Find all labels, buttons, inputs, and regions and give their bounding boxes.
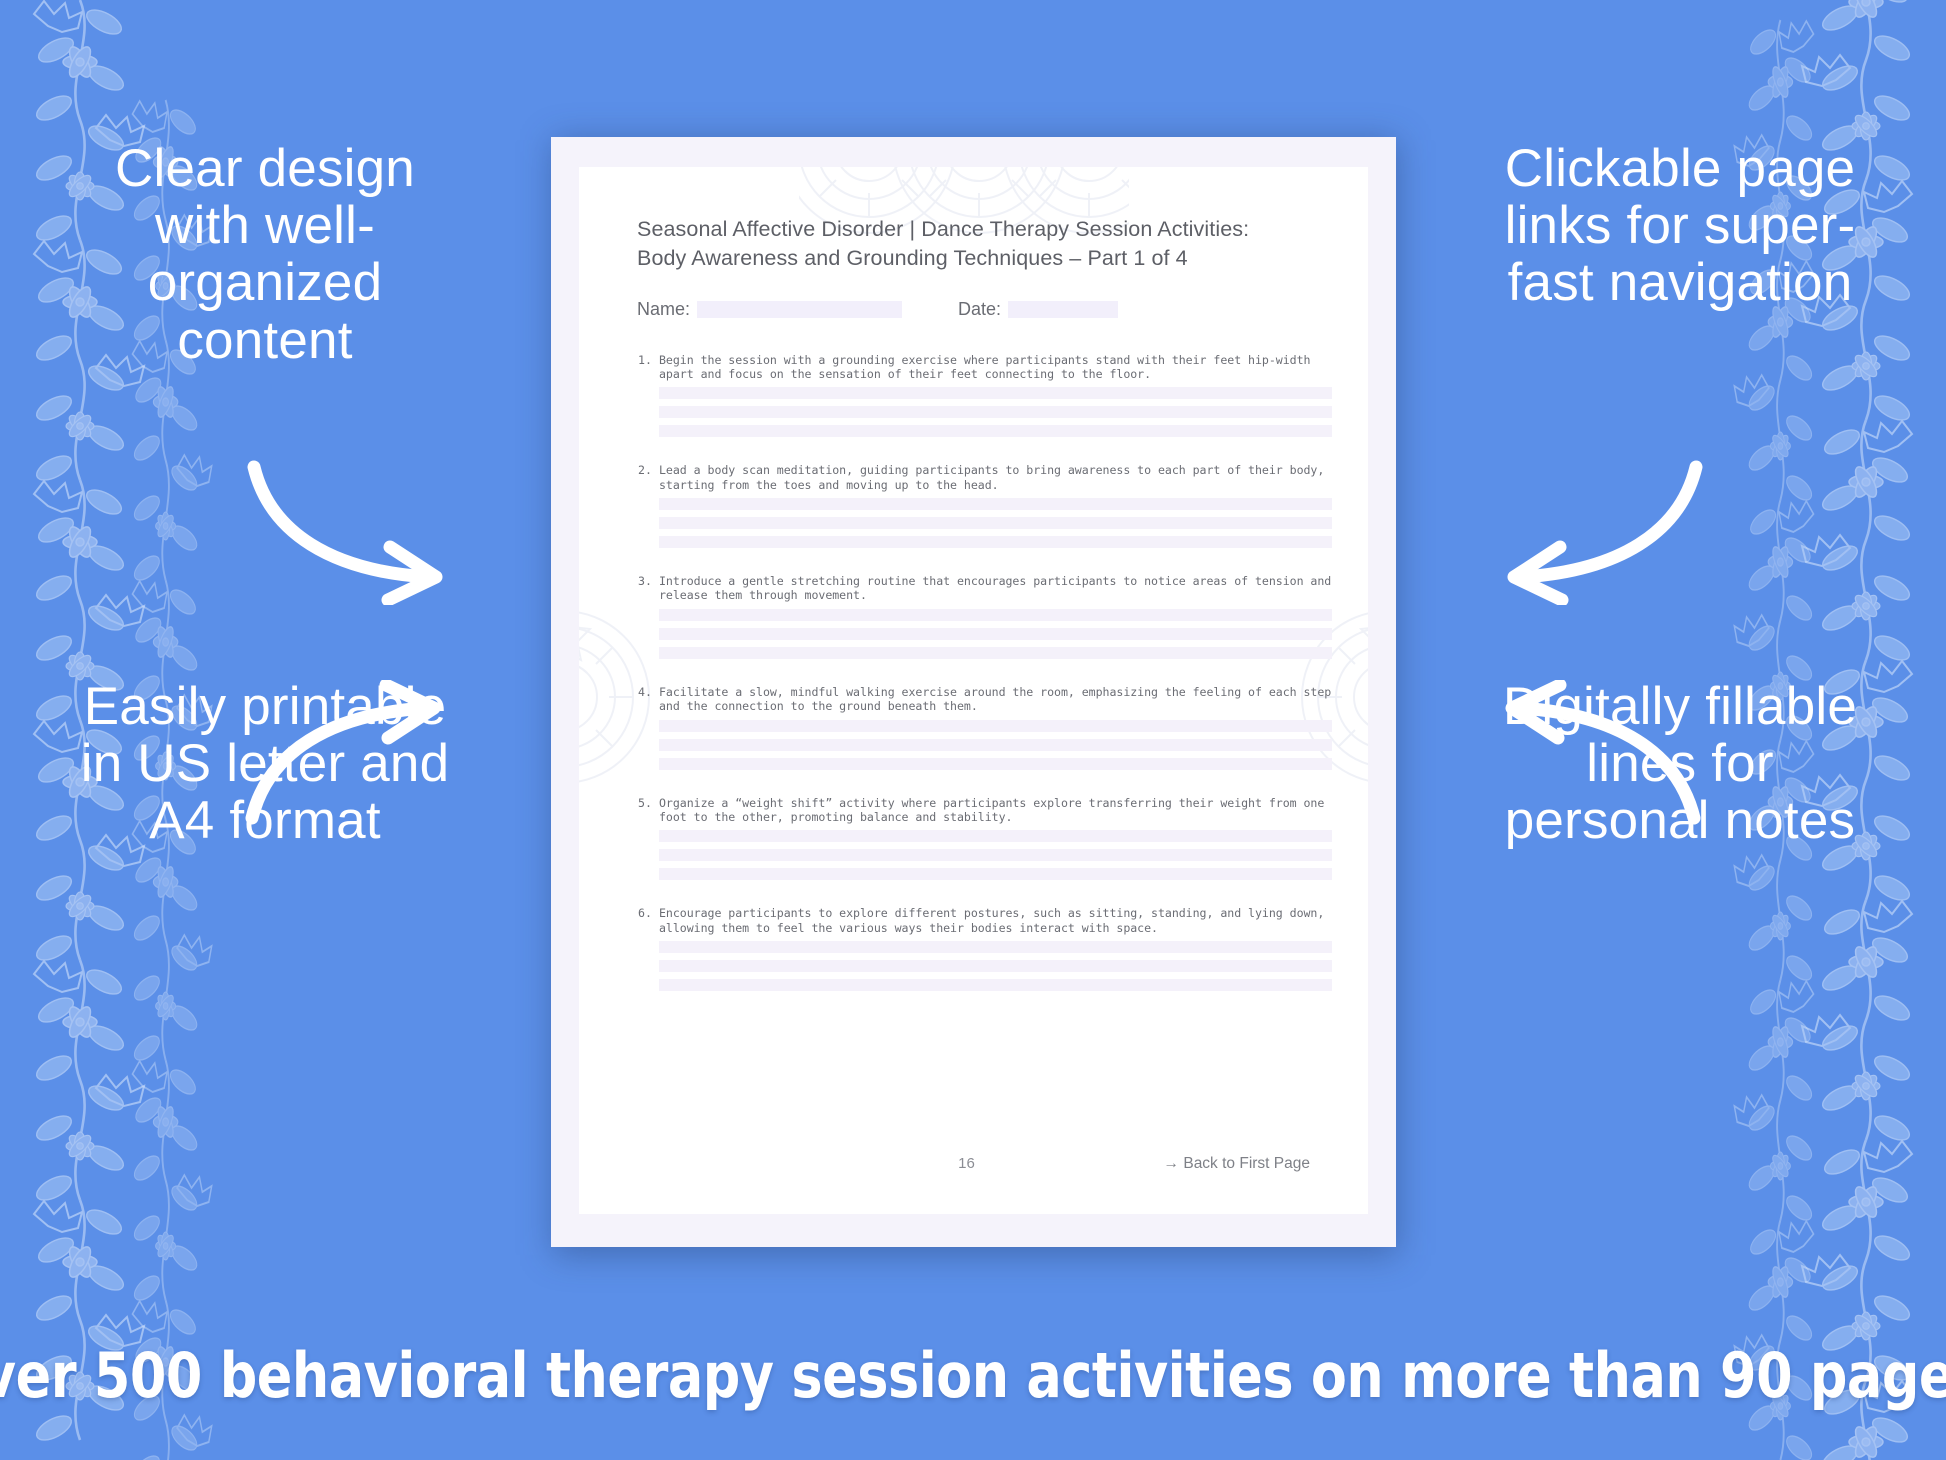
fillable-line[interactable]: [659, 609, 1332, 621]
fillable-line[interactable]: [659, 979, 1332, 991]
activity-item: 3.Introduce a gentle stretching routine …: [637, 574, 1332, 677]
activity-item: 2.Lead a body scan meditation, guiding p…: [637, 463, 1332, 566]
fillable-line[interactable]: [659, 425, 1332, 437]
fillable-line[interactable]: [659, 960, 1332, 972]
activity-spacer: [659, 887, 1332, 898]
name-label: Name:: [637, 299, 690, 320]
bottom-banner-text: Over 500 behavioral therapy session acti…: [0, 1339, 1946, 1412]
date-group: Date:: [958, 299, 1118, 320]
activity-number: 2.: [637, 463, 659, 566]
activity-spacer: [659, 444, 1332, 455]
worksheet-content-area: Seasonal Affective Disorder | Dance Ther…: [579, 167, 1368, 1214]
activity-number: 4.: [637, 685, 659, 788]
activity-text: Facilitate a slow, mindful walking exerc…: [659, 685, 1332, 714]
promo-text-fillable-lines: Digitally fillable lines for personal no…: [1480, 678, 1880, 850]
fillable-line[interactable]: [659, 941, 1332, 953]
fillable-line[interactable]: [659, 498, 1332, 510]
fillable-line[interactable]: [659, 647, 1332, 659]
date-input[interactable]: [1008, 301, 1118, 318]
date-label: Date:: [958, 299, 1001, 320]
activity-spacer: [659, 555, 1332, 566]
activity-body: Encourage participants to explore differ…: [659, 906, 1332, 1009]
activity-body: Begin the session with a grounding exerc…: [659, 353, 1332, 456]
activity-text: Introduce a gentle stretching routine th…: [659, 574, 1332, 603]
activity-list: 1.Begin the session with a grounding exe…: [637, 353, 1332, 1010]
fillable-line[interactable]: [659, 720, 1332, 732]
activity-item: 6.Encourage participants to explore diff…: [637, 906, 1332, 1009]
activity-number: 3.: [637, 574, 659, 677]
fillable-lines-group: [659, 498, 1332, 548]
activity-number: 1.: [637, 353, 659, 456]
activity-body: Facilitate a slow, mindful walking exerc…: [659, 685, 1332, 788]
worksheet-footer: 16 → Back to First Page: [637, 1155, 1332, 1172]
activity-spacer: [659, 666, 1332, 677]
bottom-banner: Over 500 behavioral therapy session acti…: [58, 1290, 1887, 1460]
fillable-line[interactable]: [659, 387, 1332, 399]
activity-spacer: [659, 998, 1332, 1009]
activity-spacer: [659, 777, 1332, 788]
worksheet-title-line-1: Seasonal Affective Disorder | Dance Ther…: [637, 215, 1332, 244]
fillable-lines-group: [659, 941, 1332, 991]
worksheet-title-line-2: Body Awareness and Grounding Techniques …: [637, 244, 1332, 273]
fillable-lines-group: [659, 609, 1332, 659]
fillable-line[interactable]: [659, 739, 1332, 751]
curved-arrow-icon-top-right: [1490, 455, 1710, 605]
fillable-line[interactable]: [659, 406, 1332, 418]
promo-text-clickable-links: Clickable page links for super-fast navi…: [1480, 140, 1880, 312]
fillable-line[interactable]: [659, 830, 1332, 842]
activity-number: 6.: [637, 906, 659, 1009]
fillable-lines-group: [659, 387, 1332, 437]
fillable-lines-group: [659, 720, 1332, 770]
promo-stage: Clear design with well-organized content…: [0, 0, 1946, 1460]
fillable-line[interactable]: [659, 868, 1332, 880]
fillable-line[interactable]: [659, 628, 1332, 640]
back-to-first-page-link[interactable]: → Back to First Page: [1164, 1155, 1310, 1173]
fillable-lines-group: [659, 830, 1332, 880]
activity-body: Introduce a gentle stretching routine th…: [659, 574, 1332, 677]
activity-body: Lead a body scan meditation, guiding par…: [659, 463, 1332, 566]
curved-arrow-icon-top-left: [240, 455, 460, 605]
worksheet-page: Seasonal Affective Disorder | Dance Ther…: [551, 137, 1396, 1247]
name-input[interactable]: [697, 301, 902, 318]
activity-item: 4.Facilitate a slow, mindful walking exe…: [637, 685, 1332, 788]
activity-number: 5.: [637, 796, 659, 899]
activity-text: Organize a “weight shift” activity where…: [659, 796, 1332, 825]
page-number: 16: [958, 1155, 975, 1172]
name-date-row: Name: Date:: [637, 299, 1332, 320]
fillable-line[interactable]: [659, 849, 1332, 861]
activity-text: Encourage participants to explore differ…: [659, 906, 1332, 935]
worksheet-body: Seasonal Affective Disorder | Dance Ther…: [637, 215, 1332, 1194]
activity-body: Organize a “weight shift” activity where…: [659, 796, 1332, 899]
promo-text-easily-printable: Easily printable in US letter and A4 for…: [70, 678, 460, 850]
activity-text: Begin the session with a grounding exerc…: [659, 353, 1332, 382]
activity-item: 1.Begin the session with a grounding exe…: [637, 353, 1332, 456]
fillable-line[interactable]: [659, 517, 1332, 529]
activity-item: 5.Organize a “weight shift” activity whe…: [637, 796, 1332, 899]
promo-text-clear-design: Clear design with well-organized content: [70, 140, 460, 369]
activity-text: Lead a body scan meditation, guiding par…: [659, 463, 1332, 492]
fillable-line[interactable]: [659, 758, 1332, 770]
fillable-line[interactable]: [659, 536, 1332, 548]
